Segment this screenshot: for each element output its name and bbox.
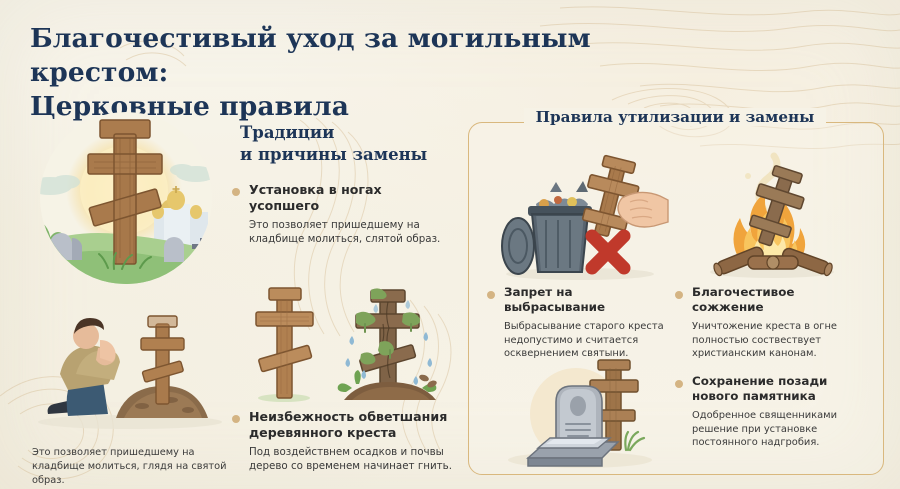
- kneeling-man-praying-at-grave-illustration: [24, 296, 236, 436]
- bullet-keep-behind-monument: Сохранение позади нового памятника Одобр…: [675, 374, 861, 450]
- traditions-heading: Традиции и причины замены: [240, 122, 454, 167]
- infographic-page: Благочестивый уход за могильным крестом:…: [0, 0, 900, 489]
- bullet-body: Это позволяет пришедшему на кладбище мол…: [249, 219, 448, 247]
- bullet-dot-icon: [675, 380, 683, 388]
- bullet-pious-burning: Благочестивое сожжение Уничтожение крест…: [675, 285, 861, 361]
- disposal-rules-heading-text: Правила утилизации и замены: [524, 108, 827, 126]
- orthodox-cross-cemetery-sunrise-illustration: [14, 112, 238, 288]
- trash-bin-cross-prohibited-illustration: [492, 158, 668, 282]
- granite-headstone-with-cross-illustration: [494, 360, 664, 472]
- traditions-heading-line1: Традиции: [240, 123, 334, 142]
- traditions-heading-line2: и причины замены: [240, 144, 454, 166]
- bullet-body: Под воздействнем осадков и почвы дерево …: [249, 446, 454, 474]
- bullet-no-throwing-away: Запрет на выбрасывание Выбрасывание стар…: [487, 285, 667, 361]
- left-illustration-caption: Это позволяет пришедшему на кладбище мол…: [32, 446, 232, 488]
- bullet-title: Благочестивое сожжение: [692, 285, 861, 315]
- bullet-title: Запрет на выбрасывание: [504, 285, 667, 315]
- bullet-dot-icon: [487, 291, 495, 299]
- bullet-dot-icon: [232, 188, 240, 196]
- disposal-rules-heading: Правила утилизации и замены: [468, 108, 882, 126]
- bonfire-burning-cross-illustration: [692, 156, 852, 282]
- page-title-line1: Благочестивый уход за могильным крестом:: [30, 23, 591, 88]
- bullet-body: Выбрасывание старого креста недопустимо …: [504, 320, 667, 360]
- bullet-body: Уничтожение креста в огне полностью сост…: [692, 320, 861, 360]
- bullet-wood-decay: Неизбежность обветшания деревянного крес…: [232, 409, 454, 474]
- new-vs-weathered-cross-illustration: [240, 284, 455, 406]
- bullet-title: Неизбежность обветшания деревянного крес…: [249, 409, 454, 441]
- bullet-dot-icon: [232, 415, 240, 423]
- bullet-title: Установка в ногах усопшего: [249, 182, 448, 214]
- bullet-dot-icon: [675, 291, 683, 299]
- bullet-title: Сохранение позади нового памятника: [692, 374, 861, 404]
- bullet-body: Одобренное священниками решение при уста…: [692, 409, 861, 449]
- bullet-installation-at-feet: Установка в ногах усопшего Это позволяет…: [232, 182, 448, 247]
